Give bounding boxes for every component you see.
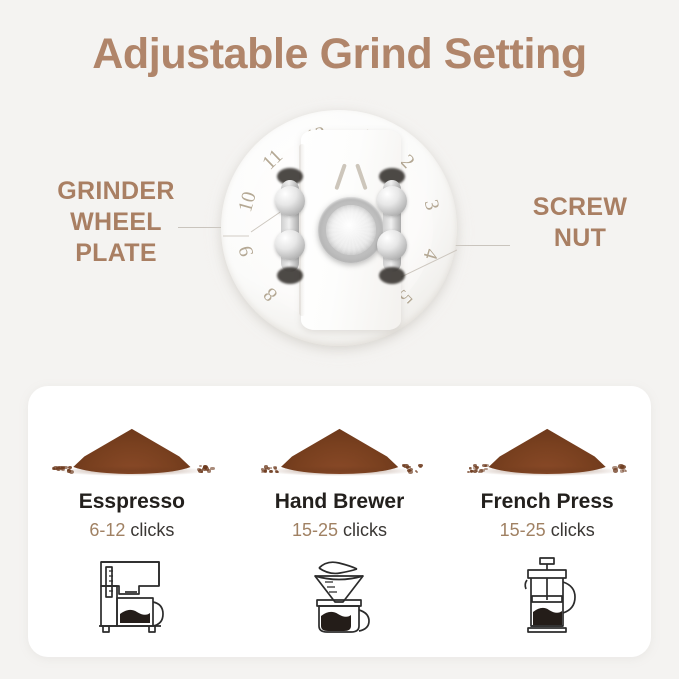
grounds-speck <box>68 466 72 469</box>
bearing-shadow-bottom <box>277 267 303 284</box>
callout-line: WHEEL <box>28 207 204 238</box>
grounds-speck <box>61 467 65 470</box>
grind-clicks: 15-25 clicks <box>236 520 444 541</box>
ball-bearing-left <box>273 172 307 280</box>
grounds-speck <box>273 466 277 470</box>
coffee-grounds-pile <box>57 412 207 474</box>
grounds-speck <box>261 468 265 471</box>
grind-clicks-range: 6-12 <box>89 520 125 540</box>
grounds-speck <box>470 470 473 473</box>
grind-name: Hand Brewer <box>236 490 444 514</box>
grounds-speck <box>53 466 58 470</box>
grind-clicks-unit: clicks <box>130 520 174 540</box>
grounds-speck <box>407 469 411 472</box>
grounds-speck <box>205 467 210 471</box>
grind-clicks-range: 15-25 <box>292 520 338 540</box>
callout-grinder-wheel-plate: GRINDER WHEEL PLATE <box>28 176 204 269</box>
grounds-speck <box>418 464 422 468</box>
callout-screw-nut: SCREW NUT <box>500 192 660 254</box>
grounds-speck <box>264 465 268 468</box>
grinder-wheel-plate[interactable]: 121110987654321 <box>221 110 457 346</box>
coffee-grounds-pile <box>265 412 415 474</box>
grind-column-french-press: French Press 15-25 clicks <box>443 386 651 657</box>
grounds-speck <box>613 468 619 472</box>
french-press-icon <box>504 552 590 641</box>
drip-coffee-maker-icon <box>89 552 175 641</box>
grind-columns: Esspresso 6-12 clicks <box>28 386 651 657</box>
bearing-bead <box>275 186 305 216</box>
callout-line: SCREW <box>500 192 660 223</box>
grind-clicks-range: 15-25 <box>500 520 546 540</box>
grind-clicks: 15-25 clicks <box>443 520 651 541</box>
grind-clicks-unit: clicks <box>551 520 595 540</box>
callout-line: PLATE <box>28 238 204 269</box>
grounds-speck <box>478 471 481 473</box>
bearing-shadow-bottom <box>379 267 405 284</box>
grounds-speck <box>275 470 278 473</box>
grounds-speck <box>199 465 202 467</box>
pour-over-dripper-icon <box>297 552 383 641</box>
grounds-speck <box>269 470 273 473</box>
chevron-up-icon <box>340 164 362 190</box>
grounds-speck <box>69 470 74 474</box>
callout-line: NUT <box>500 223 660 254</box>
grind-column-espresso: Esspresso 6-12 clicks <box>28 386 236 657</box>
page-title: Adjustable Grind Setting <box>0 30 679 79</box>
grounds-speck <box>485 464 489 468</box>
grind-name: Esspresso <box>28 490 236 514</box>
infographic-page: Adjustable Grind Setting GRINDER WHEEL P… <box>0 0 679 679</box>
grinder-dial[interactable]: 121110987654321 <box>209 104 469 358</box>
bearing-bead <box>377 230 407 260</box>
callout-line: GRINDER <box>28 176 204 207</box>
bearing-bead <box>275 230 305 260</box>
grind-column-hand-brewer: Hand Brewer 15-25 clicks <box>236 386 444 657</box>
grounds-speck <box>210 467 215 471</box>
ball-bearing-right <box>375 172 409 280</box>
grounds-speck <box>270 467 272 469</box>
grind-clicks-unit: clicks <box>343 520 387 540</box>
grind-clicks: 6-12 clicks <box>28 520 236 541</box>
grounds-speck <box>469 467 472 470</box>
grind-name: French Press <box>443 490 651 514</box>
bearing-bead <box>377 186 407 216</box>
grounds-speck <box>620 469 624 472</box>
grind-settings-card: Esspresso 6-12 clicks <box>28 386 651 657</box>
coffee-grounds-pile <box>472 412 622 474</box>
